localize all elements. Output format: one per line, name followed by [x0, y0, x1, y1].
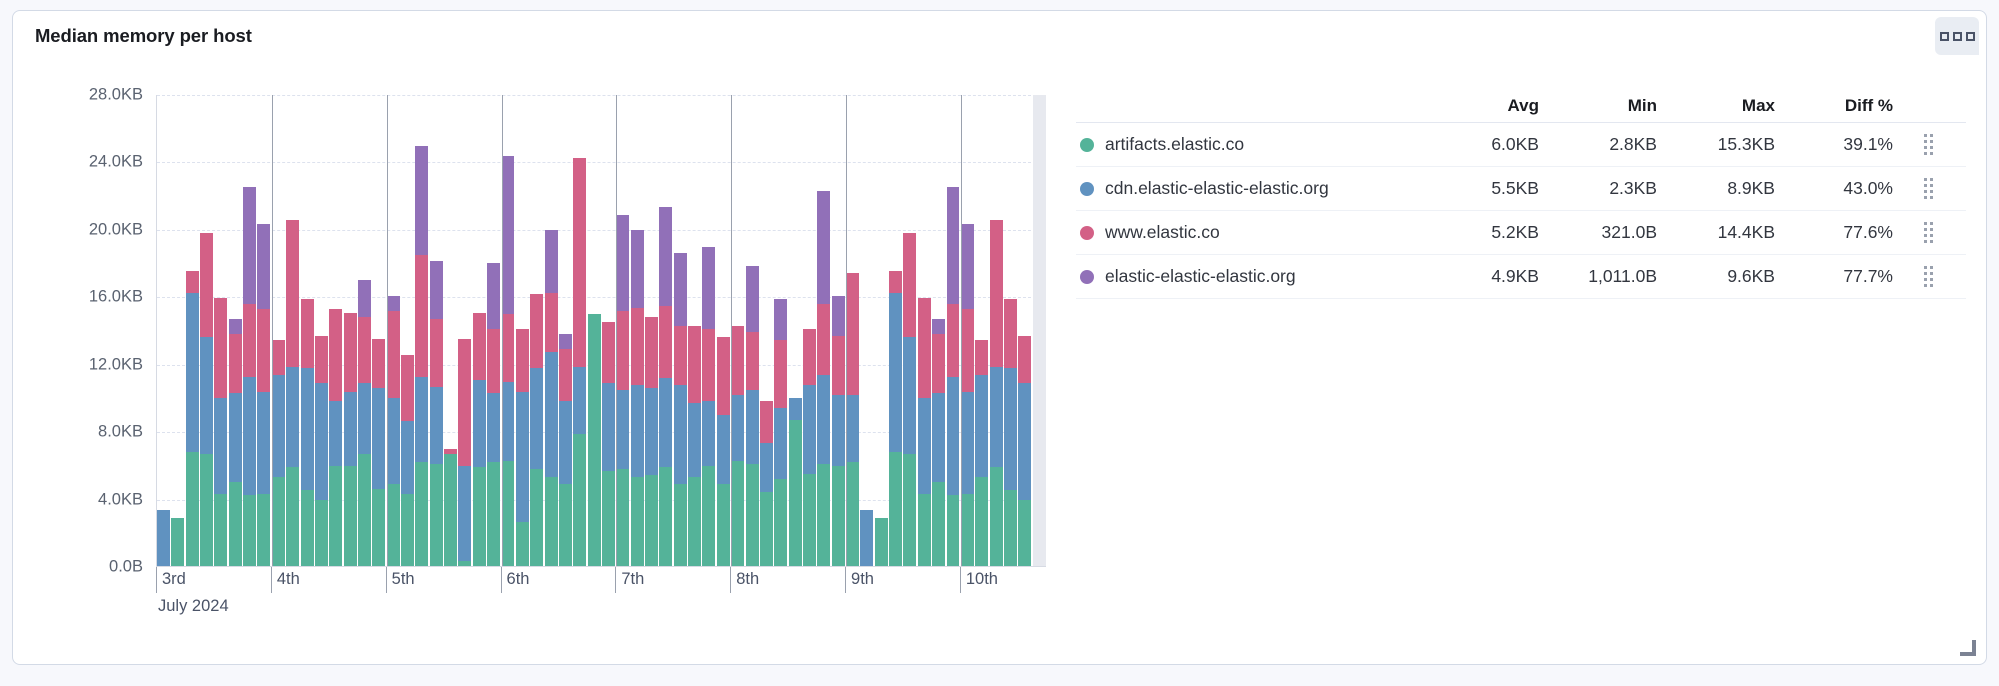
- bar-segment: [530, 294, 543, 368]
- bar-segment: [746, 390, 759, 464]
- chart-bar[interactable]: [257, 95, 270, 566]
- bar-segment: [947, 304, 960, 376]
- y-axis: 0.0B4.0KB8.0KB12.0KB16.0KB20.0KB24.0KB28…: [31, 71, 149, 576]
- bar-segment: [688, 326, 701, 403]
- x-axis: 3rd4th5th6th7th8th9th10thJuly 2024: [156, 567, 1046, 637]
- bar-segment: [329, 466, 342, 566]
- bar-segment: [545, 477, 558, 566]
- bar-segment: [573, 367, 586, 434]
- bar-segment: [789, 420, 802, 567]
- bar-segment: [846, 395, 859, 462]
- day-separator: [272, 95, 273, 566]
- chart-bar[interactable]: [473, 95, 486, 566]
- bar-segment: [372, 339, 385, 388]
- cell-min: 321.0B: [1539, 222, 1657, 243]
- chart-bar[interactable]: [674, 95, 687, 566]
- table-row[interactable]: cdn.elastic-elastic-elastic.org5.5KB2.3K…: [1076, 167, 1966, 211]
- bar-segment: [789, 398, 802, 419]
- bar-segment: [502, 382, 515, 461]
- bar-segment: [760, 492, 773, 566]
- bar-segment: [975, 375, 988, 477]
- bar-segment: [200, 233, 213, 337]
- row-drag-handle[interactable]: [1893, 178, 1963, 199]
- series-label: www.elastic.co: [1105, 222, 1220, 243]
- bar-segment: [961, 309, 974, 391]
- y-axis-tick-label: 0.0B: [109, 558, 143, 577]
- chart-bar[interactable]: [1018, 95, 1031, 566]
- bar-segment: [616, 390, 629, 469]
- bar-segment: [329, 309, 342, 401]
- bar-segment: [401, 355, 414, 421]
- bar-segment: [631, 308, 644, 385]
- chart-bar[interactable]: [430, 95, 443, 566]
- chart-bar[interactable]: [645, 95, 658, 566]
- bar-segment: [731, 326, 744, 395]
- bar-segment: [860, 510, 873, 566]
- bar-segment: [430, 319, 443, 386]
- x-axis-tick-label: 5th: [386, 567, 415, 593]
- bar-segment: [717, 484, 730, 566]
- bar-segment: [387, 311, 400, 398]
- bar-segment: [688, 477, 701, 566]
- bar-segment: [803, 474, 816, 566]
- cell-diff: 39.1%: [1775, 134, 1893, 155]
- three-squares-icon[interactable]: [1935, 17, 1979, 55]
- bar-segment: [573, 434, 586, 566]
- bar-segment: [286, 220, 299, 367]
- bar-segment: [530, 469, 543, 566]
- bar-segment: [257, 224, 270, 310]
- bar-segment: [990, 220, 1003, 367]
- chart-bar[interactable]: [717, 95, 730, 566]
- bar-segment: [444, 454, 457, 566]
- col-header-avg[interactable]: Avg: [1421, 96, 1539, 116]
- bar-segment: [272, 375, 285, 477]
- bar-segment: [257, 494, 270, 566]
- bar-segment: [975, 477, 988, 566]
- bar-segment: [415, 462, 428, 566]
- chart-bar[interactable]: [975, 95, 988, 566]
- table-row[interactable]: www.elastic.co5.2KB321.0B14.4KB77.6%: [1076, 211, 1966, 255]
- bar-segment: [803, 385, 816, 474]
- bar-segment: [286, 467, 299, 566]
- y-axis-tick-label: 20.0KB: [89, 220, 143, 239]
- bar-segment: [272, 340, 285, 375]
- bar-segment: [502, 314, 515, 381]
- panel-header: Median memory per host: [13, 11, 1986, 61]
- bar-segment: [932, 393, 945, 482]
- series-name-cell[interactable]: elastic-elastic-elastic.org: [1076, 266, 1421, 287]
- bar-segment: [545, 352, 558, 477]
- series-color-dot-icon: [1080, 182, 1094, 196]
- bar-segment: [430, 387, 443, 464]
- day-separator: [616, 95, 617, 566]
- plot-area[interactable]: [156, 95, 1046, 567]
- cell-avg: 4.9KB: [1421, 266, 1539, 287]
- bar-segment: [286, 367, 299, 467]
- cell-min: 2.3KB: [1539, 178, 1657, 199]
- bar-segment: [688, 403, 701, 477]
- table-row[interactable]: elastic-elastic-elastic.org4.9KB1,011.0B…: [1076, 255, 1966, 299]
- bar-segment: [990, 367, 1003, 467]
- bar-segment: [1018, 500, 1031, 566]
- bar-segment: [918, 398, 931, 493]
- bar-segment: [272, 477, 285, 566]
- x-axis-sublabel: July 2024: [158, 597, 229, 616]
- bar-segment: [932, 334, 945, 393]
- bar-segment: [616, 469, 629, 566]
- bar-segment: [487, 393, 500, 462]
- bar-segment: [947, 377, 960, 496]
- bar-segment: [243, 377, 256, 496]
- bar-segment: [602, 383, 615, 470]
- bar-segment: [559, 401, 572, 483]
- chart-bar[interactable]: [602, 95, 615, 566]
- bar-segment: [1004, 299, 1017, 368]
- cell-diff: 43.0%: [1775, 178, 1893, 199]
- bar-segment: [932, 482, 945, 566]
- bar-segment: [229, 393, 242, 482]
- x-axis-tick-label: 9th: [845, 567, 874, 593]
- bar-segment: [918, 494, 931, 566]
- bar-segment: [645, 317, 658, 388]
- chart-bar[interactable]: [243, 95, 256, 566]
- bar-segment: [760, 401, 773, 442]
- chart-bar[interactable]: [387, 95, 400, 566]
- bar-segment: [559, 349, 572, 402]
- x-axis-tick-label: 10th: [960, 567, 998, 593]
- bar-segment: [315, 383, 328, 500]
- bar-segment: [702, 329, 715, 401]
- chart-bar[interactable]: [214, 95, 227, 566]
- chart-bar[interactable]: [846, 95, 859, 566]
- series-name-cell[interactable]: www.elastic.co: [1076, 222, 1421, 243]
- chart-bar[interactable]: [1004, 95, 1017, 566]
- series-color-dot-icon: [1080, 270, 1094, 284]
- bar-segment: [1004, 368, 1017, 490]
- chart-bar[interactable]: [530, 95, 543, 566]
- bar-segment: [329, 401, 342, 465]
- bar-segment: [631, 385, 644, 477]
- bar-segment: [817, 464, 830, 566]
- bar-segment: [344, 313, 357, 392]
- bar-segment: [430, 464, 443, 566]
- chart-bar[interactable]: [358, 95, 371, 566]
- square-2: [1953, 32, 1962, 41]
- bar-segment: [817, 375, 830, 464]
- chart-bar[interactable]: [659, 95, 672, 566]
- series-color-dot-icon: [1080, 226, 1094, 240]
- bar-segment: [1018, 336, 1031, 384]
- bar-segment: [903, 337, 916, 454]
- bar-segment: [387, 484, 400, 566]
- bar-segment: [602, 322, 615, 383]
- chart-bar[interactable]: [817, 95, 830, 566]
- chart-bar[interactable]: [516, 95, 529, 566]
- bar-segment: [473, 313, 486, 380]
- bar-segment: [573, 158, 586, 367]
- chart-bar[interactable]: [186, 95, 199, 566]
- bar-segment: [889, 452, 902, 566]
- table-header-row: Avg Min Max Diff %: [1076, 79, 1966, 123]
- bar-segment: [702, 466, 715, 566]
- stacked-bar-chart: 0.0B4.0KB8.0KB12.0KB16.0KB20.0KB24.0KB28…: [31, 71, 1071, 651]
- bar-segment: [918, 298, 931, 398]
- series-name-cell[interactable]: artifacts.elastic.co: [1076, 134, 1421, 155]
- resize-corner-icon[interactable]: [1960, 640, 1976, 656]
- grab-dots-icon: [1924, 266, 1933, 287]
- bar-segment: [631, 477, 644, 566]
- row-drag-handle[interactable]: [1893, 222, 1963, 243]
- bar-segment: [817, 191, 830, 305]
- table-body: artifacts.elastic.co6.0KB2.8KB15.3KB39.1…: [1076, 123, 1966, 299]
- page-title: Median memory per host: [35, 25, 252, 47]
- bar-segment: [301, 490, 314, 566]
- bar-segment: [487, 329, 500, 393]
- chart-bar[interactable]: [688, 95, 701, 566]
- bar-segment: [659, 207, 672, 306]
- chart-bar[interactable]: [444, 95, 457, 566]
- chart-bar[interactable]: [803, 95, 816, 566]
- bar-segment: [990, 467, 1003, 566]
- bar-segment: [401, 421, 414, 493]
- chart-bar[interactable]: [889, 95, 902, 566]
- bar-segment: [502, 156, 515, 314]
- bar-segment: [387, 296, 400, 311]
- chart-bar[interactable]: [588, 95, 601, 566]
- chart-bar[interactable]: [760, 95, 773, 566]
- chart-bar[interactable]: [171, 95, 184, 566]
- bar-segment: [659, 378, 672, 467]
- dashboard-panel: Median memory per host 0.0B4.0KB8.0KB12.…: [12, 10, 1987, 665]
- chart-bar[interactable]: [559, 95, 572, 566]
- chart-bar[interactable]: [157, 95, 170, 566]
- chart-bar[interactable]: [372, 95, 385, 566]
- chart-bar[interactable]: [415, 95, 428, 566]
- bar-segment: [760, 443, 773, 492]
- bar-segment: [702, 401, 715, 465]
- bar-segment: [875, 518, 888, 566]
- day-separator: [502, 95, 503, 566]
- cell-avg: 6.0KB: [1421, 134, 1539, 155]
- bar-segment: [257, 309, 270, 391]
- chart-bar[interactable]: [932, 95, 945, 566]
- x-axis-tick-label: 8th: [730, 567, 759, 593]
- bar-segment: [372, 489, 385, 566]
- col-header-max[interactable]: Max: [1657, 96, 1775, 116]
- grab-dots-icon: [1924, 134, 1933, 155]
- chart-bar[interactable]: [344, 95, 357, 566]
- cell-avg: 5.5KB: [1421, 178, 1539, 199]
- x-axis-tick-label: 4th: [271, 567, 300, 593]
- chart-bar[interactable]: [832, 95, 845, 566]
- cell-max: 14.4KB: [1657, 222, 1775, 243]
- bar-segment: [903, 233, 916, 337]
- chart-bar[interactable]: [200, 95, 213, 566]
- bar-segment: [545, 293, 558, 352]
- chart-bar[interactable]: [918, 95, 931, 566]
- series-label: artifacts.elastic.co: [1105, 134, 1244, 155]
- bar-segment: [444, 449, 457, 454]
- cell-max: 15.3KB: [1657, 134, 1775, 155]
- bar-segment: [961, 224, 974, 310]
- bar-segment: [487, 263, 500, 329]
- bar-segment: [358, 454, 371, 566]
- bar-segment: [932, 319, 945, 334]
- bar-segment: [358, 383, 371, 454]
- chart-bar[interactable]: [301, 95, 314, 566]
- bar-segment: [186, 293, 199, 453]
- bar-segment: [832, 466, 845, 566]
- x-axis-tick-label: 6th: [501, 567, 530, 593]
- chart-bar[interactable]: [458, 95, 471, 566]
- chart-bar[interactable]: [731, 95, 744, 566]
- chart-bar[interactable]: [315, 95, 328, 566]
- bar-segment: [803, 329, 816, 385]
- bar-segment: [157, 510, 170, 566]
- bar-segment: [344, 392, 357, 466]
- bar-segment: [731, 461, 744, 566]
- bar-segment: [229, 482, 242, 566]
- x-axis-tick-label: 7th: [615, 567, 644, 593]
- bar-segment: [502, 461, 515, 566]
- bar-segment: [458, 466, 471, 561]
- y-axis-tick-label: 28.0KB: [89, 86, 143, 105]
- bar-segment: [746, 332, 759, 390]
- bar-segment: [616, 311, 629, 390]
- cell-max: 8.9KB: [1657, 178, 1775, 199]
- bar-segment: [315, 336, 328, 384]
- chart-bar[interactable]: [286, 95, 299, 566]
- cell-avg: 5.2KB: [1421, 222, 1539, 243]
- chart-bar[interactable]: [545, 95, 558, 566]
- bar-segment: [588, 314, 601, 566]
- chart-bar[interactable]: [947, 95, 960, 566]
- chart-bar[interactable]: [746, 95, 759, 566]
- bar-segment: [516, 329, 529, 392]
- bar-segment: [717, 337, 730, 414]
- bar-segment: [229, 334, 242, 393]
- chart-bar[interactable]: [487, 95, 500, 566]
- y-axis-tick-label: 12.0KB: [89, 355, 143, 374]
- bar-segment: [961, 392, 974, 494]
- col-header-diff[interactable]: Diff %: [1775, 96, 1893, 116]
- bar-segment: [214, 298, 227, 398]
- bar-segment: [674, 253, 687, 325]
- bar-segment: [301, 299, 314, 368]
- bar-segment: [832, 296, 845, 336]
- bar-segment: [903, 454, 916, 566]
- bar-segment: [702, 247, 715, 329]
- bar-segment: [659, 306, 672, 378]
- bar-segment: [430, 261, 443, 319]
- bar-segment: [616, 215, 629, 310]
- square-1: [1940, 32, 1949, 41]
- partial-bucket-overlay: [1033, 95, 1046, 566]
- y-axis-tick-label: 8.0KB: [98, 423, 143, 442]
- grab-dots-icon: [1924, 222, 1933, 243]
- bar-segment: [832, 395, 845, 466]
- row-drag-handle[interactable]: [1893, 134, 1963, 155]
- bar-segment: [889, 293, 902, 453]
- chart-bar[interactable]: [616, 95, 629, 566]
- chart-bar[interactable]: [903, 95, 916, 566]
- bar-segment: [315, 500, 328, 566]
- chart-bar[interactable]: [702, 95, 715, 566]
- bar-segment: [947, 187, 960, 304]
- square-3: [1966, 32, 1975, 41]
- chart-bar[interactable]: [789, 95, 802, 566]
- chart-bar[interactable]: [272, 95, 285, 566]
- y-axis-tick-label: 24.0KB: [89, 153, 143, 172]
- bar-segment: [243, 304, 256, 376]
- bar-segment: [545, 230, 558, 293]
- chart-bar[interactable]: [774, 95, 787, 566]
- bar-segment: [659, 467, 672, 566]
- cell-diff: 77.7%: [1775, 266, 1893, 287]
- bar-segment: [487, 462, 500, 566]
- col-header-min[interactable]: Min: [1539, 96, 1657, 116]
- bar-segment: [774, 479, 787, 566]
- bar-segment: [975, 340, 988, 375]
- chart-bar[interactable]: [961, 95, 974, 566]
- bar-segment: [372, 388, 385, 488]
- bar-segment: [186, 452, 199, 566]
- bar-segment: [243, 187, 256, 304]
- chart-bar[interactable]: [329, 95, 342, 566]
- bar-segment: [774, 408, 787, 479]
- bar-segment: [243, 495, 256, 566]
- bar-segment: [214, 494, 227, 566]
- bar-segment: [530, 368, 543, 468]
- bar-segment: [516, 392, 529, 522]
- bar-segment: [344, 466, 357, 566]
- bar-segment: [846, 462, 859, 566]
- y-axis-tick-label: 16.0KB: [89, 288, 143, 307]
- series-name-cell[interactable]: cdn.elastic-elastic-elastic.org: [1076, 178, 1421, 199]
- chart-bar[interactable]: [990, 95, 1003, 566]
- cell-min: 1,011.0B: [1539, 266, 1657, 287]
- chart-bar[interactable]: [631, 95, 644, 566]
- bar-segment: [602, 471, 615, 566]
- bar-segment: [358, 280, 371, 318]
- chart-bar[interactable]: [502, 95, 515, 566]
- grab-dots-icon: [1924, 178, 1933, 199]
- bar-segment: [229, 319, 242, 334]
- bar-segment: [559, 334, 572, 349]
- bar-segment: [832, 336, 845, 395]
- chart-bar[interactable]: [860, 95, 873, 566]
- bar-segment: [631, 230, 644, 307]
- row-drag-handle[interactable]: [1893, 266, 1963, 287]
- bar-segment: [186, 271, 199, 292]
- chart-bar[interactable]: [401, 95, 414, 566]
- bar-segment: [387, 398, 400, 484]
- bar-segment: [674, 484, 687, 566]
- bar-segment: [774, 299, 787, 340]
- chart-bar[interactable]: [875, 95, 888, 566]
- bar-segment: [171, 518, 184, 566]
- series-label: cdn.elastic-elastic-elastic.org: [1105, 178, 1329, 199]
- bar-segment: [257, 392, 270, 494]
- chart-bar[interactable]: [573, 95, 586, 566]
- table-row[interactable]: artifacts.elastic.co6.0KB2.8KB15.3KB39.1…: [1076, 123, 1966, 167]
- bar-segment: [1004, 490, 1017, 566]
- chart-bar[interactable]: [229, 95, 242, 566]
- bar-segment: [746, 266, 759, 332]
- bar-segment: [200, 337, 213, 454]
- bar-segment: [516, 522, 529, 566]
